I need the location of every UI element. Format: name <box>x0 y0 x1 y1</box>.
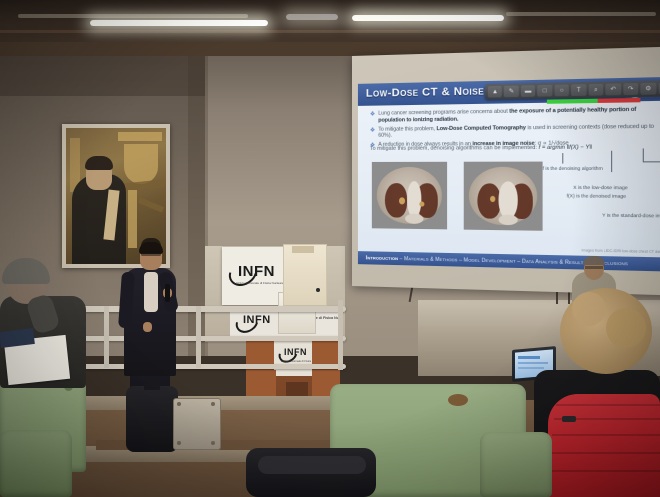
ceiling-beam <box>0 30 660 33</box>
slide-title: Low-Dose CT & Noise <box>366 85 484 100</box>
projected-slide: Low-Dose CT & Noise INFN ▲✎▬□○T⌕↶↷⚙✕ ❖Lu… <box>358 77 660 272</box>
slide-bullet: ❖To mitigate this problem, Low-Dose Comp… <box>370 123 660 140</box>
record-indicator-bar <box>598 98 641 103</box>
recording-progress-bar <box>547 99 598 104</box>
slide-bullet: ❖Lung cancer screening programs arise co… <box>370 106 660 124</box>
pen-tool-icon[interactable]: ✎ <box>504 86 518 98</box>
infn-banner-upper: INFN Istituto Nazionale di Fisica Nuclea… <box>222 247 284 305</box>
annotation-leader-2 <box>611 151 612 172</box>
wall-socket <box>316 288 320 292</box>
shapes-icon[interactable]: ○ <box>554 84 569 96</box>
slide-credit: Images from LIDC-IDRI low-dose chest CT … <box>582 248 660 254</box>
equation-intro: To mitigate this problem, denoising algo… <box>370 145 537 152</box>
highlighter-icon[interactable]: ▬ <box>521 85 536 97</box>
paper-pad-tab <box>292 246 314 253</box>
footer-current-section: Introduction <box>366 255 398 262</box>
slide-bullet-text: To mitigate this problem, Low-Dose Compu… <box>378 123 660 140</box>
annotation-leader-3 <box>643 148 644 161</box>
equation: f = argmin ‖f(X) − Y‖ <box>539 144 592 151</box>
eraser-icon[interactable]: □ <box>538 85 553 97</box>
zoom-icon[interactable]: ⌕ <box>588 84 603 96</box>
annotation-leader-1 <box>562 153 563 164</box>
slide-footer-nav: Introduction – Materials & Methods – Mod… <box>358 251 660 272</box>
ceiling-light-dim-left <box>18 14 248 18</box>
ceiling-light-dim-right <box>506 12 656 16</box>
chair-front-left-lower <box>0 430 72 497</box>
ceiling-light-strip-3 <box>352 15 504 21</box>
annotation-toolbar[interactable]: ▲✎▬□○T⌕↶↷⚙✕ <box>485 80 660 100</box>
laptop-screen-content-1 <box>518 356 540 359</box>
projection-screen: Low-Dose CT & Noise INFN ▲✎▬□○T⌕↶↷⚙✕ ❖Lu… <box>352 46 660 295</box>
microphone <box>165 284 170 302</box>
ceiling-light-strip-1 <box>90 20 268 26</box>
chair-center-emblem <box>448 394 468 406</box>
ct-image-low-dose <box>372 162 447 230</box>
pointer-tool-icon[interactable]: ▲ <box>488 86 502 98</box>
jacket-brand-tag <box>562 416 576 422</box>
paper-pad <box>283 244 327 306</box>
background-attendee-glasses <box>585 266 603 269</box>
speaker-left-hand <box>143 322 152 332</box>
annotation-leader-4 <box>643 161 660 162</box>
railing-post-2 <box>196 306 201 368</box>
attendee-red-jacket <box>548 394 660 497</box>
black-backpack <box>126 386 178 452</box>
annotation-f: f is the denoising algorithm <box>543 166 603 171</box>
annotation-fx: f(X) is the denoised image <box>567 193 627 199</box>
chair-front-right <box>480 432 552 497</box>
laptop-screen-content-3 <box>518 367 544 369</box>
ceiling-light-strip-2 <box>286 14 338 20</box>
railing-post-3 <box>338 300 343 370</box>
settings-icon[interactable]: ⚙ <box>641 83 656 95</box>
laptop-screen-content-2 <box>518 362 548 364</box>
foreground-bag-strap <box>258 456 366 474</box>
speaker-glasses <box>141 253 161 256</box>
diamond-bullet: ❖ <box>370 126 375 140</box>
speaker-shirt <box>144 272 158 312</box>
background-attendee-hair <box>583 256 605 265</box>
text-tool-icon[interactable]: T <box>571 84 586 96</box>
backpack-handle <box>144 378 160 390</box>
annotation-y: Y is the standard-dose image <box>602 212 660 218</box>
wall-shadow-top <box>0 56 205 96</box>
railing-post-1 <box>104 306 109 368</box>
annotation-x: X is the low-dose image <box>573 185 627 191</box>
lecture-hall-photo: INFN Istituto Nazionale di Fisica Nuclea… <box>0 0 660 497</box>
slide-bullet-text: Lung cancer screening programs arise con… <box>378 106 660 124</box>
diamond-bullet: ❖ <box>370 111 375 125</box>
undo-icon[interactable]: ↶ <box>606 83 621 95</box>
ct-image-denoised <box>464 162 543 231</box>
redo-icon[interactable]: ↷ <box>623 83 638 95</box>
